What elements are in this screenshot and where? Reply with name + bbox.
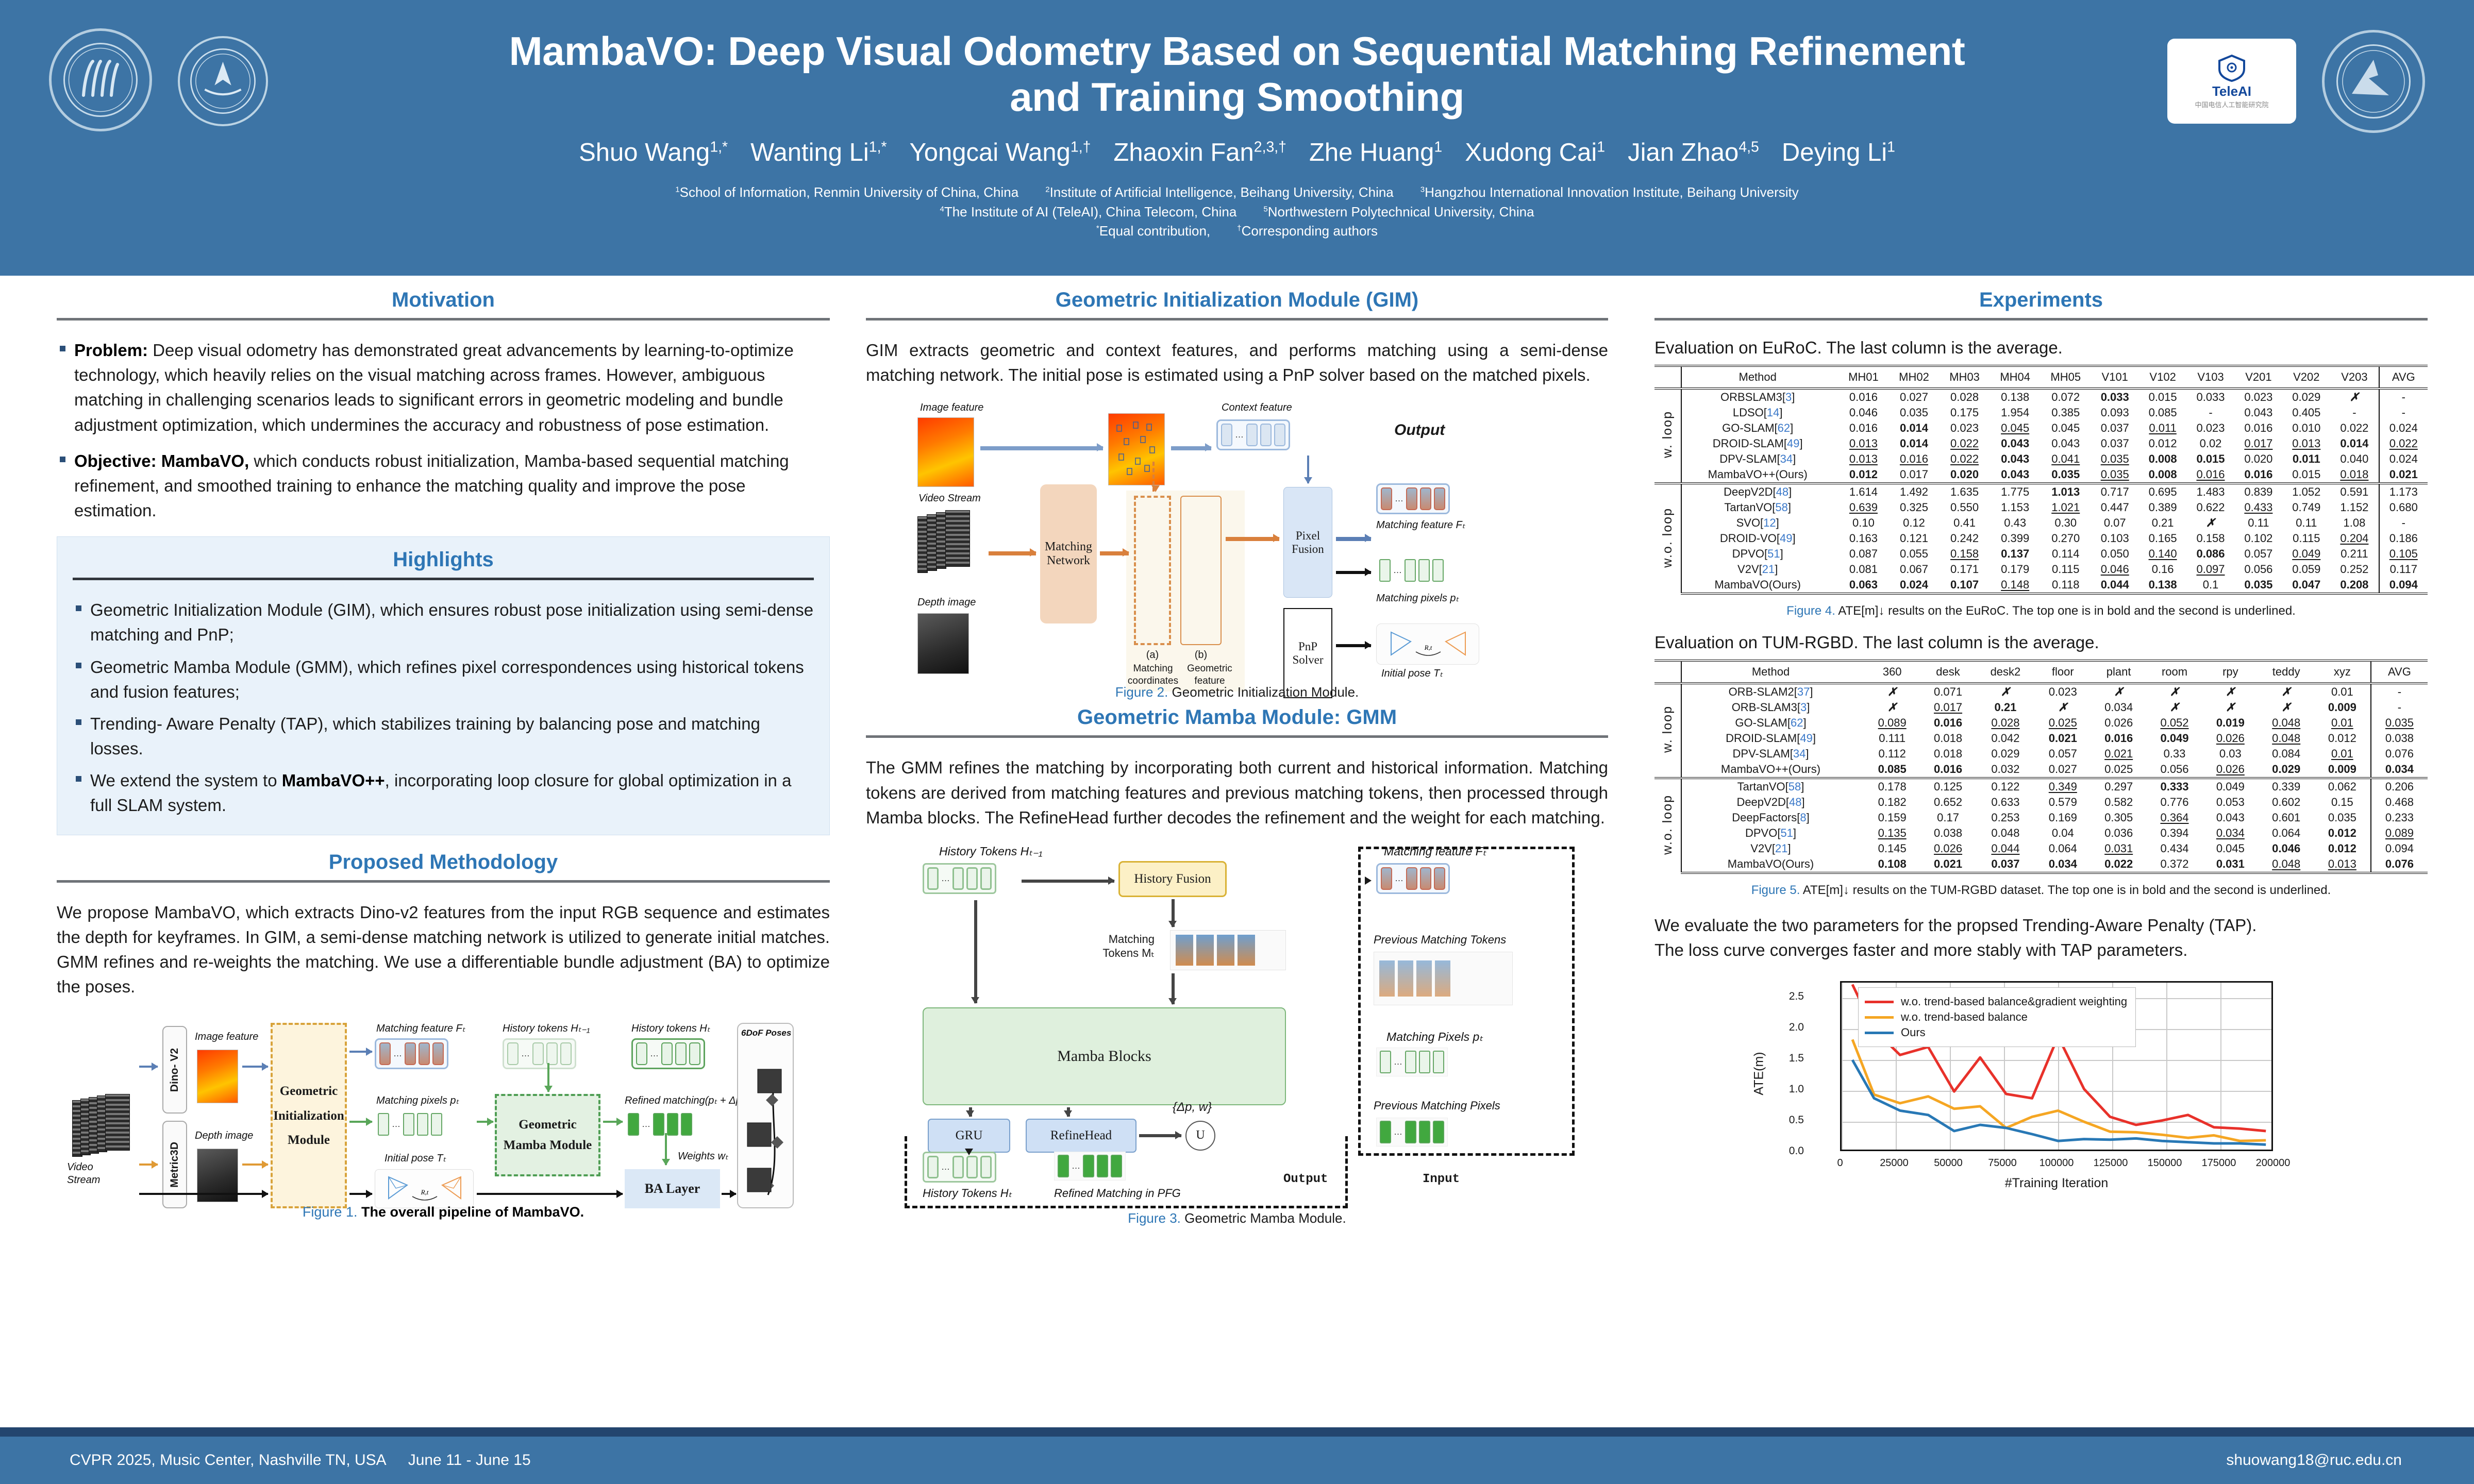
table-cell: 0.020 [1940,467,1990,483]
motivation-heading: Motivation [57,289,830,318]
table-cell: 0.019 [2202,715,2258,731]
y-tick-label: 2.5 [1758,990,1804,1003]
table-cell: - [2379,515,2428,531]
table-cell: 0.081 [1838,562,1888,577]
method-name: DPV-SLAM[34] [1681,746,1864,762]
fig2-arrow [1336,537,1371,541]
table-cell: 0.447 [2091,500,2139,515]
table-row: MambaVO++(Ours)0.0850.0160.0320.0270.025… [1654,762,2428,778]
table-cell: 0.749 [2282,500,2330,515]
table-row: SVO[12]0.100.120.410.430.300.070.21✗0.11… [1654,515,2428,531]
figure-4-caption: Figure 4. ATE[m]↓ results on the EuRoC. … [1654,604,2428,618]
table-cell: 0.013 [1838,451,1888,467]
table-cell: 0.014 [1888,420,1939,436]
table-cell: 0.108 [1864,856,1920,873]
legend-label: w.o. trend-based balance [1901,1010,2028,1024]
fig2-arrow [1307,456,1309,483]
table-cell: 0.012 [2139,436,2187,451]
column-header: xyz [2314,661,2371,683]
table-cell: 0.175 [1940,405,1990,420]
figure-5-caption: Figure 5. ATE[m]↓ results on the TUM-RGB… [1654,883,2428,898]
table-cell: 0.165 [2139,531,2187,546]
highlights-rule [73,578,814,580]
table-cell: 0.076 [2371,856,2428,873]
gim-heading: Geometric Initialization Module (GIM) [866,289,1608,318]
table-cell: 0.064 [2035,841,2091,856]
fig2-matching-coords-group [1134,496,1171,645]
table-cell: 0.043 [1990,436,2041,451]
table-cell: 0.41 [1940,515,1990,531]
table-cell: 0.121 [1888,531,1939,546]
table-cell: 0.159 [1864,810,1920,825]
table-cell: 0.349 [2035,778,2091,795]
table-cell: 0.023 [2187,420,2235,436]
table-cell: 0.208 [2330,577,2379,594]
table-cell: 0.21 [1976,700,2035,715]
table-cell: - [2371,700,2428,715]
table-cell: 0.021 [2091,746,2146,762]
affiliations: 1School of Information, Renmin Universit… [309,183,2165,241]
fig2-arrow [1152,462,1155,492]
table-cell: 0.325 [1888,500,1939,515]
table-cell: 0.022 [2330,420,2379,436]
legend-label: Ours [1901,1026,1926,1039]
fig3-matching-pixels-label: Matching Pixels pₜ [1386,1030,1483,1044]
table-cell: 0.046 [2259,841,2314,856]
fig2-arrow [1336,571,1371,574]
table-cell: 0.015 [2187,451,2235,467]
section-gmm: Geometric Mamba Module: GMM The GMM refi… [866,706,1608,830]
table-cell: ✗ [2187,515,2235,531]
table-row: TartanVO[58]0.6390.3250.5501.1531.0210.4… [1654,500,2428,515]
table-cell: 0.138 [2139,577,2187,594]
table-cell: 0.047 [2282,577,2330,594]
fig1-video-stream-label: Video Stream [67,1161,124,1187]
legend-swatch [1865,1016,1894,1019]
fig2-matching-pixels-label: Matching pixels pₜ [1376,592,1459,604]
fig3-arrow [969,1107,972,1117]
fig3-arrow [1022,880,1114,883]
highlights-heading: Highlights [73,548,814,578]
table-cell: 0.029 [2282,389,2330,405]
fig3-history-tokens-prev: … [923,863,996,894]
fig3-previous-matching-tokens [1374,952,1513,1005]
table-cell: 0.399 [1990,531,2041,546]
column-header: desk [1920,661,1976,683]
author-name: Jian Zhao4,5 [1628,139,1759,167]
table-cell: - [2330,405,2379,420]
table-row: ORB-SLAM3[3]✗0.0170.21✗0.034✗✗✗0.009- [1654,700,2428,715]
table-cell: 0.014 [2330,436,2379,451]
table-cell: 0.049 [2147,731,2202,746]
group-label: w. loop [1654,683,1681,778]
table-cell: 0.015 [2282,467,2330,483]
table-cell: 0.040 [2330,451,2379,467]
table-cell: 0.211 [2330,546,2379,562]
fig3-history-tokens-prev-label: History Tokens Hₜ₋₁ [939,845,1042,858]
table-cell: 0.204 [2330,531,2379,546]
method-name: DeepV2D[48] [1681,483,1838,500]
table-row: V2V[21]0.0810.0670.1710.1790.1150.0460.1… [1654,562,2428,577]
gmm-rule [866,735,1608,738]
table-cell: 0.138 [1990,389,2041,405]
table-cell: 0.339 [2259,778,2314,795]
table-cell: 0.046 [2091,562,2139,577]
table-cell: 0.013 [2282,436,2330,451]
table-cell: 0.394 [2147,825,2202,841]
list-item: We extend the system to MambaVO++, incor… [73,768,814,818]
table-cell: 0.013 [2314,856,2371,873]
table-cell: 0.010 [2282,420,2330,436]
table-cell: 0.135 [1864,825,1920,841]
table-cell: 0.035 [2091,467,2139,483]
table-cell: 0.027 [1888,389,1939,405]
fig1-dino-block: Dino- V2 [162,1026,187,1114]
table-cell: ✗ [2259,683,2314,700]
table-cell: 0.094 [2371,841,2428,856]
table-cell: 0.049 [2202,778,2258,795]
table-cell: 0.031 [2091,841,2146,856]
fig3-matching-tokens-label: Matching Tokens Mₜ [1098,932,1155,960]
table-cell: 0.072 [2041,389,2091,405]
fig1-matching-pixels-tokens: … [375,1110,445,1138]
poster-footer: CVPR 2025, Music Center, Nashville TN, U… [0,1427,2474,1484]
method-name: DeepFactors[8] [1681,810,1864,825]
table-cell: 0.045 [2041,420,2091,436]
fig1-arrow [349,1051,372,1053]
affiliation-item: 1School of Information, Renmin Universit… [675,183,1018,203]
table-cell: ✗ [2035,700,2091,715]
method-name: TartanVO[58] [1681,778,1864,795]
fig1-refined-matching-label: Refined matching(pₜ + Δpₜ) [625,1094,748,1107]
table-cell: 0.122 [1976,778,2035,795]
list-item: Problem: Deep visual odometry has demons… [57,338,830,437]
table-cell: 0.025 [2035,715,2091,731]
gmm-text: The GMM refines the matching by incorpor… [866,755,1608,830]
author-name: Zhe Huang1 [1309,139,1442,167]
list-item: Objective: MambaVO, which conducts robus… [57,449,830,524]
table-cell: 0.035 [1888,405,1939,420]
table-cell: 0.008 [2139,467,2187,483]
legend-item: w.o. trend-based balance&gradient weight… [1865,995,2127,1008]
teleai-subtext: 中国电信人工智能研究院 [2195,99,2268,109]
table-cell: 0.021 [2379,467,2428,483]
author-notes: *Equal contribution,†Corresponding autho… [309,222,2165,241]
table-cell: 1.08 [2330,515,2379,531]
fig3-arrow [1067,1107,1070,1117]
table-cell: ✗ [1864,683,1920,700]
fig1-gmm-block: Geometric Mamba Module [495,1094,600,1176]
bullet-text: Geometric Mamba Module (GMM), which refi… [90,657,804,701]
legend-label: w.o. trend-based balance&gradient weight… [1901,995,2127,1008]
table-cell: 0.048 [1976,825,2035,841]
column-header: MH01 [1838,366,1888,389]
table-cell: 0.776 [2147,795,2202,810]
table-row: DeepFactors[8]0.1590.170.2530.1690.3050.… [1654,810,2428,825]
table-cell: 0.02 [2187,436,2235,451]
group-label: w.o. loop [1654,483,1681,594]
experiments-rule [1654,318,2428,321]
bullet-lead: Objective: MambaVO, [74,451,249,470]
table-cell: 0.011 [2282,451,2330,467]
table-cell: 0.15 [2314,795,2371,810]
table-cell: 0.016 [1838,420,1888,436]
fig2-matching-feature-label: Matching feature Fₜ [1376,518,1465,531]
table-cell: 0.022 [1940,451,1990,467]
table-row: LDSO[14]0.0460.0350.1751.9540.3850.0930.… [1654,405,2428,420]
table-cell: 0.04 [2035,825,2091,841]
fig1-arrow [603,1121,623,1123]
tum-intro: Evaluation on TUM-RGBD. The last column … [1654,633,2428,652]
fig1-arrow [139,1163,158,1166]
method-name: ORBSLAM3[3] [1681,389,1838,405]
teleai-logo: TeleAI 中国电信人工智能研究院 [2167,39,2296,124]
method-name: ORB-SLAM2[37] [1681,683,1864,700]
table-cell: 0.163 [1838,531,1888,546]
chart-series-line [1852,1060,2266,1144]
table-cell: 0.052 [2147,715,2202,731]
table-cell: 0.067 [1888,562,1939,577]
table-cell: 0.034 [2091,700,2146,715]
table-cell: 0.050 [2091,546,2139,562]
fig3-previous-matching-pixels: … [1376,1118,1448,1146]
method-name: DPV-SLAM[34] [1681,451,1838,467]
table-cell: 0.114 [2041,546,2091,562]
fig1-arrow [477,1121,493,1123]
table-cell: 0.270 [2041,531,2091,546]
fig3-arrow [1172,899,1175,927]
methodology-rule [57,880,830,883]
table-cell: 0.093 [2091,405,2139,420]
x-tick-label: 50000 [1934,1157,1963,1169]
method-name: ORB-SLAM3[3] [1681,700,1864,715]
affiliation-item: †Corresponding authors [1237,222,1378,241]
table-cell: 0.043 [1990,451,2041,467]
column-header: V202 [2282,366,2330,389]
table-cell: 0.01 [2314,715,2371,731]
method-name: MambaVO++(Ours) [1681,762,1864,778]
table-cell: 0.468 [2371,795,2428,810]
table-cell: 0.179 [1990,562,2041,577]
fig1-history-tokens-prev-label: History tokens Hₜ₋₁ [503,1022,590,1035]
table-row: GO-SLAM[62]0.0890.0160.0280.0250.0260.05… [1654,715,2428,731]
euroc-intro: Evaluation on EuRoC. The last column is … [1654,338,2428,358]
table-cell: 0.036 [2091,825,2146,841]
fig3-arrow [1139,1134,1181,1137]
table-cell: 0.008 [2139,451,2187,467]
table-cell: 1.614 [1838,483,1888,500]
method-name: V2V[21] [1681,841,1864,856]
fig2-arrow [1226,537,1279,541]
table-cell: 0.016 [2234,420,2282,436]
table-cell: 0.016 [1888,451,1939,467]
fig1-history-tokens-label: History tokens Hₜ [631,1022,710,1035]
table-cell: 0.115 [2282,531,2330,546]
table-row: DPV-SLAM[34]0.0130.0160.0220.0430.0410.0… [1654,451,2428,467]
table-cell: 1.492 [1888,483,1939,500]
table-cell: ✗ [1976,683,2035,700]
fig3-refined-matching-label: Refined Matching in PFG [1054,1187,1181,1200]
table-cell: 0.009 [2314,762,2371,778]
table-cell: 0.178 [1864,778,1920,795]
table-cell: 0.11 [2234,515,2282,531]
fig1-poses-label: 6DoF Poses [741,1028,791,1038]
table-cell: 0.056 [2147,762,2202,778]
table-cell: 0.014 [1888,436,1939,451]
fig1-arrow [139,1193,268,1195]
table-cell: 0.009 [2314,700,2371,715]
table-cell: 0.186 [2379,531,2428,546]
x-tick-label: 150000 [2148,1157,2182,1169]
table-cell: 0.021 [2035,731,2091,746]
table-cell: 0.023 [2234,389,2282,405]
column-header: desk2 [1976,661,2035,683]
table-row: DPV-SLAM[34]0.1120.0180.0290.0570.0210.3… [1654,746,2428,762]
table-cell: 1.483 [2187,483,2235,500]
fig1-initial-pose-label: Initial pose Tₜ [385,1152,446,1165]
table-cell: ✗ [1864,700,1920,715]
euroc-results-table: MethodMH01MH02MH03MH04MH05V101V102V103V2… [1654,365,2428,595]
tap-text-line-2: The loss curve converges faster and more… [1654,938,2428,963]
fig2-video-frames [917,510,984,577]
fig1-video-frames [72,1094,139,1161]
table-cell: 0.016 [1838,389,1888,405]
table-cell: 0.017 [1920,700,1976,715]
poster-title: MambaVO: Deep Visual Odometry Based on S… [392,28,2082,120]
table-cell: 0.622 [2187,500,2235,515]
fig2-pose-illustration: R,t [1376,623,1479,665]
fig1-matching-feature-tokens: … [375,1038,448,1069]
table-cell: 0.839 [2234,483,2282,500]
fig3-history-tokens-out: … [923,1152,996,1183]
column-header: V103 [2187,366,2235,389]
table-cell: 0.717 [2091,483,2139,500]
fig3-matching-feature-tokens: … [1376,863,1450,894]
table-cell: 0.022 [1940,436,1990,451]
table-cell: 0.012 [2314,841,2371,856]
svg-text:R,t: R,t [1424,644,1432,651]
fig3-mamba-blocks-block: Mamba Blocks [923,1007,1286,1105]
table-cell: 0.035 [2091,451,2139,467]
figure-3-gmm: History Tokens Hₜ₋₁ … History Fusion Mat… [892,842,1582,1203]
table-row: DeepV2D[48]0.1820.6520.6330.5790.5820.77… [1654,795,2428,810]
table-cell: 0.026 [2202,762,2258,778]
fig1-arrow [722,1193,736,1195]
table-cell: 0.07 [2091,515,2139,531]
section-methodology: Proposed Methodology We propose MambaVO,… [57,851,830,1000]
table-cell: 0.071 [1920,683,1976,700]
table-cell: 0.33 [2147,746,2202,762]
y-tick-label: 1.5 [1758,1052,1804,1065]
affiliation-item: *Equal contribution, [1096,222,1210,241]
method-name: DROID-VO[49] [1681,531,1838,546]
author-name: Yongcai Wang1,† [910,139,1091,167]
table-row: MambaVO++(Ours)0.0120.0170.0200.0430.035… [1654,467,2428,483]
method-name: GO-SLAM[62] [1681,420,1838,436]
table-cell: 0.011 [2139,420,2187,436]
fig1-gim-block: Geometric Initialization Module [271,1023,347,1208]
method-name: V2V[21] [1681,562,1838,577]
table-cell: 0.053 [2202,795,2258,810]
table-cell: 0.118 [2041,577,2091,594]
column-header: V203 [2330,366,2379,389]
poster-root: TeleAI 中国电信人工智能研究院 MambaVO: Deep Visual … [0,0,2474,1484]
table-cell: 0.253 [1976,810,2035,825]
fig2-arrow [980,446,1103,450]
fig3-matching-pixels-tokens: … [1376,1048,1448,1076]
table-cell: 0.105 [2379,546,2428,562]
table-cell: 0.022 [2379,436,2428,451]
fig2-depth-image-label: Depth image [917,597,976,609]
fig1-image-feature-label: Image feature [195,1031,258,1043]
fig2-video-stream-label: Video Stream [918,493,981,504]
method-name: DPVO[51] [1681,825,1864,841]
author-list: Shuo Wang1,*Wanting Li1,*Yongcai Wang1,†… [361,139,2113,167]
fig3-input-label: Input [1423,1172,1460,1186]
fig2-b-label: (b) [1186,649,1215,661]
gim-rule [866,318,1608,321]
section-highlights: Highlights Geometric Initialization Modu… [57,536,830,835]
table-cell: 0.057 [2234,546,2282,562]
table-cell: 0.11 [2282,515,2330,531]
column-header: room [2147,661,2202,683]
fig2-matching-network-block: Matching Network [1040,484,1097,623]
column-header: V201 [2234,366,2282,389]
fig2-matching-coordinates-label: Matching coordinates [1125,663,1181,687]
table-cell: 0.089 [1864,715,1920,731]
table-cell: - [2187,405,2235,420]
table-cell: 0.145 [1864,841,1920,856]
fig3-previous-matching-tokens-label: Previous Matching Tokens [1374,933,1506,947]
table-row: DPVO[51]0.0870.0550.1580.1370.1140.0500.… [1654,546,2428,562]
table-cell: 0.016 [1920,762,1976,778]
table-cell: 0.026 [2202,731,2258,746]
npu-logo [2322,30,2425,133]
method-name: DROID-SLAM[49] [1681,436,1838,451]
table-cell: 0.044 [2091,577,2139,594]
fig3-union-node: U [1185,1121,1215,1151]
column-header: MH04 [1990,366,2041,389]
gmm-heading: Geometric Mamba Module: GMM [866,706,1608,735]
table-cell: 0.017 [2234,436,2282,451]
bullet-text: Geometric Initialization Module (GIM), w… [90,600,813,644]
method-name: LDSO[14] [1681,405,1838,420]
figure-2-caption: Figure 2. Geometric Initialization Modul… [892,684,1582,700]
table-cell: 0.035 [2371,715,2428,731]
fig1-arrow [665,1133,667,1165]
fig2-geometric-feature-label: Geometric feature [1181,663,1238,687]
fig1-depth-image-label: Depth image [195,1130,253,1142]
table-row: DROID-VO[49]0.1630.1210.2420.3990.2700.1… [1654,531,2428,546]
buaa-logo [178,36,268,126]
table-cell: 0.038 [2371,731,2428,746]
table-cell: 1.052 [2282,483,2330,500]
table-cell: 0.024 [1888,577,1939,594]
table-cell: 0.107 [1940,577,1990,594]
table-cell: 0.579 [2035,795,2091,810]
table-cell: 0.085 [1864,762,1920,778]
table-cell: 0.046 [1838,405,1888,420]
table-cell: 0.158 [1940,546,1990,562]
table-cell: 0.639 [1838,500,1888,515]
table-cell: ✗ [2202,683,2258,700]
loss-curve-chart: ATE(m) 0.00.51.01.52.02.5 02500050000750… [1781,976,2301,1198]
list-item: Trending- Aware Penalty (TAP), which sta… [73,712,814,761]
fig1-arrow [242,1163,268,1166]
table-cell: 0.056 [2234,562,2282,577]
table-cell: 0.016 [2187,467,2235,483]
table-cell: 0.169 [2035,810,2091,825]
